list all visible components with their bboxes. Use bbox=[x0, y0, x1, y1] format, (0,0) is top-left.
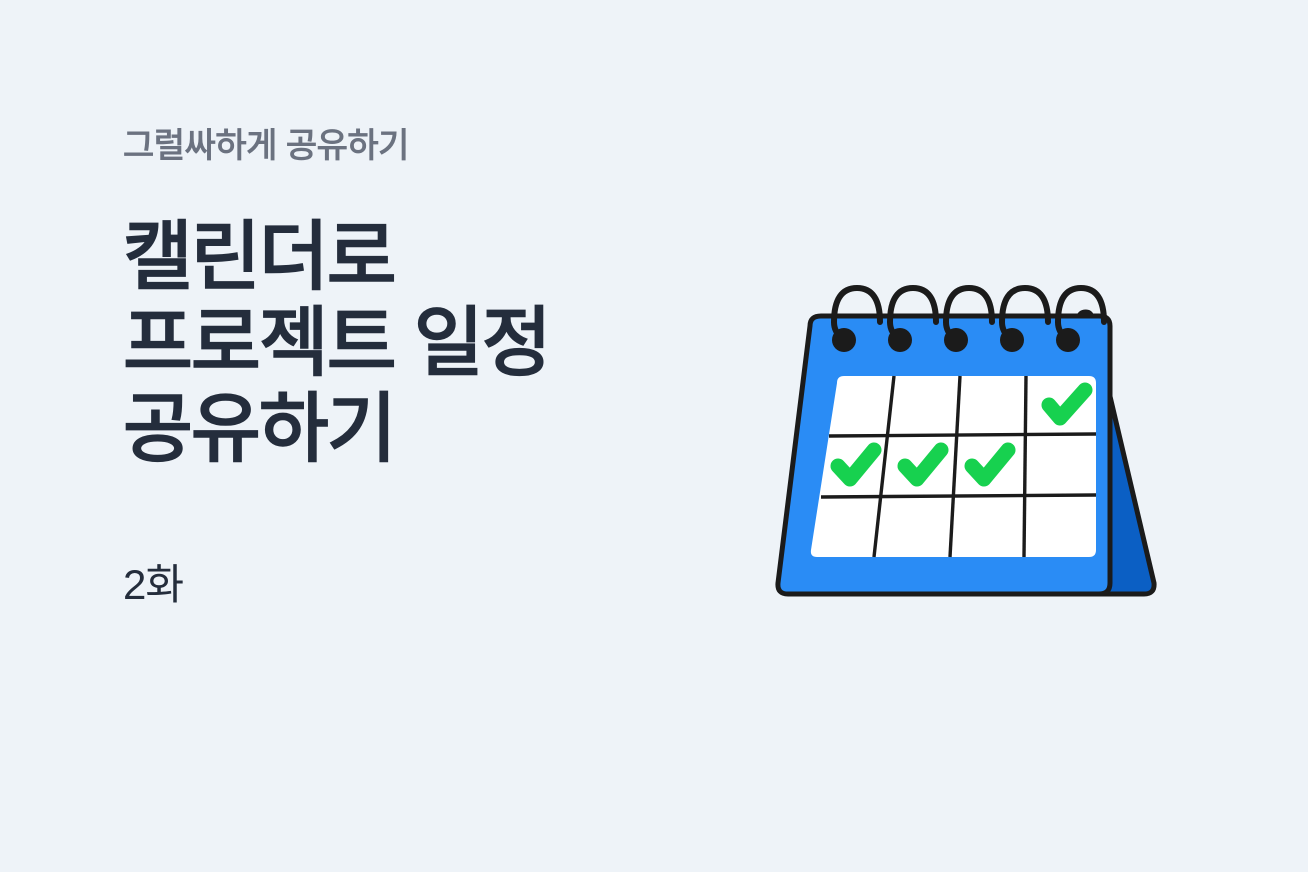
poster-canvas: 그럴싸하게 공유하기 캘린더로 프로젝트 일정 공유하기 2화 bbox=[0, 0, 1308, 872]
page-title-line-1: 캘린더로 bbox=[123, 215, 723, 301]
page-title-line-3: 공유하기 bbox=[123, 387, 723, 473]
text-block: 그럴싸하게 공유하기 캘린더로 프로젝트 일정 공유하기 2화 bbox=[123, 126, 723, 611]
desk-calendar-illustration bbox=[762, 278, 1192, 608]
eyebrow-label: 그럴싸하게 공유하기 bbox=[123, 126, 723, 167]
episode-label: 2화 bbox=[123, 560, 723, 610]
desk-calendar-icon bbox=[762, 278, 1192, 608]
page-title: 캘린더로 프로젝트 일정 공유하기 bbox=[123, 215, 723, 473]
page-title-line-2: 프로젝트 일정 bbox=[123, 301, 723, 387]
